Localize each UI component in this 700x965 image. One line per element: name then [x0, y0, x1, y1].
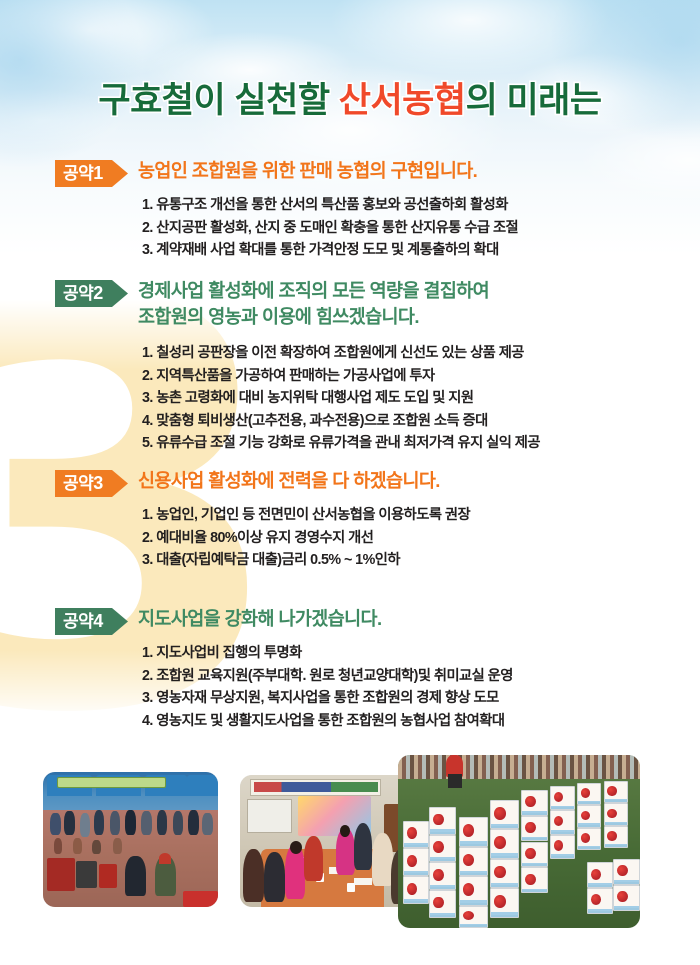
photo-gallery: [0, 755, 700, 935]
pledge-items-1: 1. 유통구조 개선을 통한 산서의 특산품 홍보와 공선출하회 활성화 2. …: [142, 194, 518, 262]
photo-apple-box-stacks: [398, 755, 640, 928]
pledge-headline-1: 농업인 조합원을 위한 판매 농협의 구현입니다.: [138, 158, 477, 184]
list-item: 2. 지역특산품을 가공하여 판매하는 가공사업에 투자: [142, 365, 540, 388]
pledge-headline-2: 경제사업 활성화에 조직의 모든 역량을 결집하여 조합원의 영농과 이용에 힘…: [138, 278, 489, 330]
list-item: 3. 영농자재 무상지원, 복지사업을 통한 조합원의 경제 향상 도모: [142, 687, 513, 710]
pledge-badge-4-label: 공약: [63, 612, 93, 631]
list-item: 2. 조합원 교육지원(주부대학. 원로 청년교양대학)및 취미교실 운영: [142, 665, 513, 688]
photo2-content: [240, 775, 412, 907]
pledge-badge-1-number: 1: [93, 163, 103, 183]
pledge-badge-3-number: 3: [93, 473, 103, 493]
list-item: 4. 맞춤형 퇴비생산(고추전용, 과수전용)으로 조합원 소득 증대: [142, 410, 540, 433]
list-item: 3. 계약재배 사업 확대를 통한 가격안정 도모 및 계통출하의 확대: [142, 239, 518, 262]
pledge-headline-4: 지도사업을 강화해 나가겠습니다.: [138, 606, 382, 632]
pledge-headline-3: 신용사업 활성화에 전력을 다 하겠습니다.: [138, 468, 440, 494]
list-item: 1. 농업인, 기업인 등 전면민이 산서농협을 이용하도록 권장: [142, 504, 470, 527]
pledge-badge-3: 공약3: [55, 470, 128, 497]
pledge-headline-3-line1: 신용사업 활성화에 전력을 다 하겠습니다.: [138, 468, 440, 494]
pledge-badge-2-number: 2: [93, 283, 103, 303]
poster-title-part3: 의 미래는: [466, 81, 602, 120]
list-item: 1. 칠성리 공판장을 이전 확장하여 조합원에게 신선도 있는 상품 제공: [142, 342, 540, 365]
list-item: 2. 예대비율 80%이상 유지 경영수지 개선: [142, 527, 470, 550]
poster-title: 구효철이 실천할 산서농협의 미래는: [0, 72, 700, 123]
list-item: 3. 농촌 고령화에 대비 농지위탁 대행사업 제도 도입 및 지원: [142, 387, 540, 410]
photo-indoor-education-class: [240, 775, 412, 907]
pledge-badge-2-label: 공약: [63, 284, 93, 303]
pledge-headline-1-line1: 농업인 조합원을 위한 판매 농협의 구현입니다.: [138, 158, 477, 184]
list-item: 5. 유류수급 조절 기능 강화로 유류가격을 관내 최저가격 유지 실익 제공: [142, 432, 540, 455]
pledge-badge-4: 공약4: [55, 608, 128, 635]
pledge-headline-4-line1: 지도사업을 강화해 나가겠습니다.: [138, 606, 382, 632]
poster-title-part2: 산서농협: [339, 81, 466, 120]
pledge-items-3: 1. 농업인, 기업인 등 전면민이 산서농협을 이용하도록 권장 2. 예대비…: [142, 504, 470, 572]
list-item: 4. 영농지도 및 생활지도사업을 통한 조합원의 농협사업 참여확대: [142, 710, 513, 733]
list-item: 1. 지도사업비 집행의 투명화: [142, 642, 513, 665]
list-item: 3. 대출(자립예탁금 대출)금리 0.5% ~ 1%인하: [142, 549, 470, 572]
photo3-content: [398, 755, 640, 928]
pledge-badge-4-number: 4: [93, 611, 103, 631]
pledge-headline-2-line2: 조합원의 영농과 이용에 힘쓰겠습니다.: [138, 304, 489, 330]
list-item: 2. 산지공판 활성화, 산지 중 도매인 확충을 통한 산지유통 수급 조절: [142, 217, 518, 240]
pledge-badge-1-label: 공약: [63, 164, 93, 183]
photo1-content: [43, 772, 218, 907]
poster-title-part1: 구효철이 실천할: [98, 81, 338, 120]
pledge-items-4: 1. 지도사업비 집행의 투명화 2. 조합원 교육지원(주부대학. 원로 청년…: [142, 642, 513, 732]
photo-outdoor-machinery-exhibition: [43, 772, 218, 907]
pledge-badge-3-label: 공약: [63, 474, 93, 493]
watermark-shade: [0, 300, 42, 430]
pledge-items-2: 1. 칠성리 공판장을 이전 확장하여 조합원에게 신선도 있는 상품 제공 2…: [142, 342, 540, 455]
pledge-headline-2-line1: 경제사업 활성화에 조직의 모든 역량을 결집하여: [138, 278, 489, 304]
list-item: 1. 유통구조 개선을 통한 산서의 특산품 홍보와 공선출하회 활성화: [142, 194, 518, 217]
campaign-poster: 3 구효철이 실천할 산서농협의 미래는 공약1 농업인 조합원을 위한 판매 …: [0, 0, 700, 965]
